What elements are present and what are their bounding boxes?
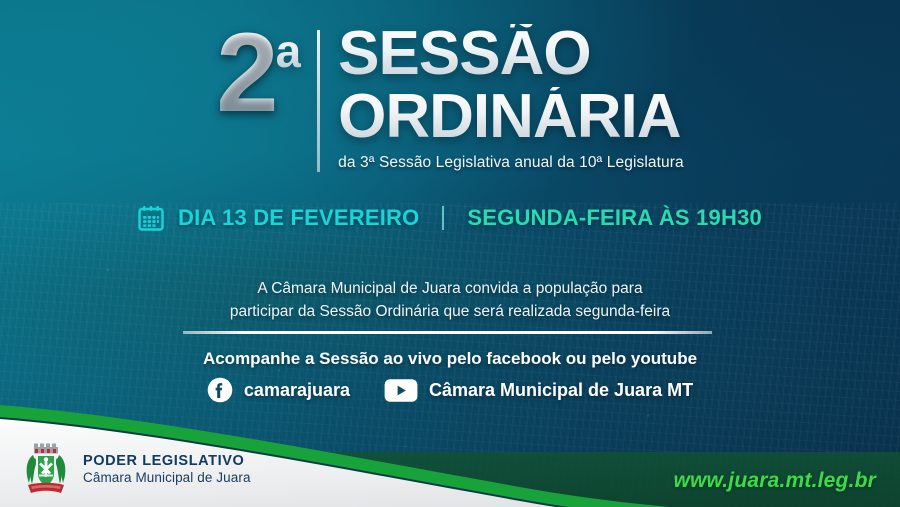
youtube-icon xyxy=(384,378,418,403)
title-vertical-divider xyxy=(317,30,320,172)
calendar-icon xyxy=(138,205,164,231)
follow-prefix: Acompanhe a Sessão xyxy=(203,349,383,368)
session-ordinal: a xyxy=(276,32,302,71)
date-day: DIA 13 DE FEVEREIRO xyxy=(178,205,419,231)
follow-suffix: pelo facebook ou pelo youtube xyxy=(442,349,697,368)
date-weekday-time: SEGUNDA-FEIRA ÀS 19H30 xyxy=(467,205,762,231)
follow-highlight: ao vivo xyxy=(383,349,442,368)
horizontal-divider xyxy=(183,331,712,334)
coat-of-arms-icon xyxy=(22,441,70,497)
youtube-handle: Câmara Municipal de Juara MT xyxy=(429,380,693,401)
session-announcement-poster: 2 a SESSÃO ORDINÁRIA da 3ª Sessão Legisl… xyxy=(0,0,900,507)
facebook-handle: camarajuara xyxy=(244,380,350,401)
title-text-group: SESSÃO ORDINÁRIA da 3ª Sessão Legislativ… xyxy=(338,22,684,172)
brand-line-2: Câmara Municipal de Juara xyxy=(83,470,251,485)
facebook-link[interactable]: camarajuara xyxy=(207,377,350,403)
title-block: 2 a SESSÃO ORDINÁRIA da 3ª Sessão Legisl… xyxy=(0,22,900,172)
website-url[interactable]: www.juara.mt.leg.br xyxy=(673,469,876,493)
follow-instructions: Acompanhe a Sessão ao vivo pelo facebook… xyxy=(0,349,900,369)
title-line-1: SESSÃO xyxy=(338,24,684,85)
date-separator xyxy=(442,206,444,230)
session-number-group: 2 a xyxy=(216,22,301,120)
youtube-link[interactable]: Câmara Municipal de Juara MT xyxy=(384,378,693,403)
invitation-line-1: A Câmara Municipal de Juara convida a po… xyxy=(0,277,900,300)
title-line-2: ORDINÁRIA xyxy=(338,87,684,148)
title-subtitle: da 3ª Sessão Legislativa anual da 10ª Le… xyxy=(338,154,684,172)
facebook-icon xyxy=(207,377,233,403)
date-line: DIA 13 DE FEVEREIRO SEGUNDA-FEIRA ÀS 19H… xyxy=(0,205,900,231)
brand-line-1: PODER LEGISLATIVO xyxy=(83,453,251,469)
session-number: 2 xyxy=(216,26,274,120)
invitation-line-2: participar da Sessão Ordinária que será … xyxy=(0,300,900,323)
invitation-paragraph: A Câmara Municipal de Juara convida a po… xyxy=(0,277,900,324)
social-links: camarajuara Câmara Municipal de Juara MT xyxy=(0,377,900,403)
institution-brand: PODER LEGISLATIVO Câmara Municipal de Ju… xyxy=(22,441,251,497)
brand-text: PODER LEGISLATIVO Câmara Municipal de Ju… xyxy=(83,453,251,485)
